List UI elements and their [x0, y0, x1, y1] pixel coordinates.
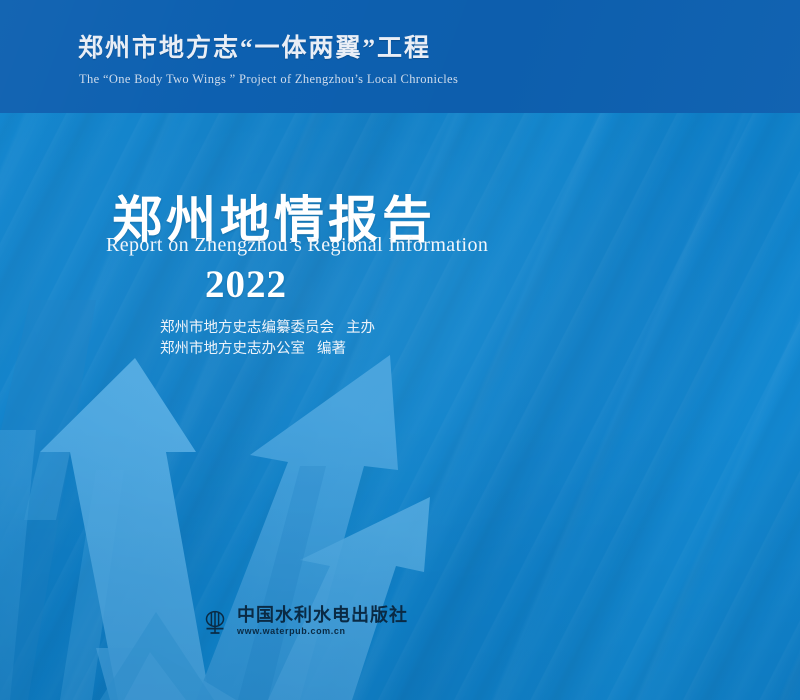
credit-row: 郑州市地方史志编纂委员会主办 [160, 318, 375, 339]
credit-role: 编著 [317, 341, 346, 357]
book-year: 2022 [205, 262, 287, 307]
credit-organization: 郑州市地方史志办公室 [160, 341, 305, 357]
credit-role: 主办 [346, 320, 375, 336]
header-series-title-zh: 郑州市地方志“一体两翼”工程 [78, 28, 431, 64]
book-title-en: Report on Zhengzhou’s Regional Informati… [106, 234, 488, 257]
credit-organization: 郑州市地方史志编纂委员会 [160, 320, 334, 336]
credit-row: 郑州市地方史志办公室编著 [160, 339, 375, 360]
publisher-text: 中国水利水电出版社 www.waterpub.com.cn [237, 606, 408, 636]
credits-block: 郑州市地方史志编纂委员会主办 郑州市地方史志办公室编著 [160, 318, 375, 360]
publisher-name: 中国水利水电出版社 [237, 606, 408, 624]
header-series-subtitle-en: The “One Body Two Wings ” Project of Zhe… [79, 72, 458, 87]
publisher-block: 中国水利水电出版社 www.waterpub.com.cn [200, 606, 408, 636]
waterpub-emblem-icon [200, 606, 230, 636]
book-cover: 郑州市地方志“一体两翼”工程 The “One Body Two Wings ”… [0, 0, 800, 700]
publisher-url: www.waterpub.com.cn [237, 627, 408, 636]
